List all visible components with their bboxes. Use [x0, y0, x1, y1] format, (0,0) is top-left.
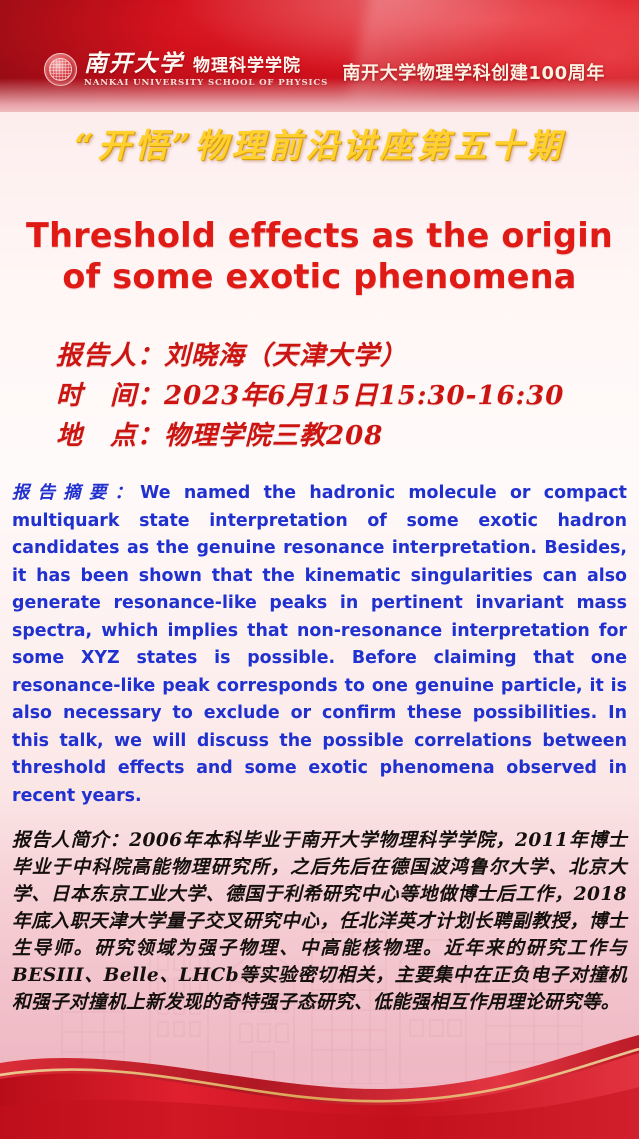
logo-university-name-cn: 南开大学 [84, 52, 184, 75]
talk-details: 报告人： 刘晓海（天津大学） 时 间： 2023年6月15日15:30-16:3… [56, 335, 619, 455]
footer-wave-gold-edge [0, 1049, 639, 1101]
footer-wave-back [0, 1035, 639, 1139]
footer-wave-highlight [0, 1087, 639, 1139]
footer-ribbon [0, 1019, 639, 1139]
time-label: 时 间： [56, 375, 164, 412]
location-value: 物理学院三教208 [164, 415, 383, 452]
speaker-row: 报告人： 刘晓海（天津大学） [56, 335, 619, 372]
header-banner: 南开大学 物理科学学院 NANKAI UNIVERSITY SCHOOL OF … [0, 0, 639, 112]
speaker-value: 刘晓海（天津大学） [164, 335, 407, 372]
talk-title: Threshold effects as the origin of some … [16, 216, 623, 298]
time-value: 2023年6月15日15:30-16:30 [164, 375, 564, 412]
series-title: “开悟”物理前沿讲座第五十期 [0, 119, 639, 167]
speaker-label: 报告人： [56, 335, 164, 372]
abstract-section: 报告摘要：We named the hadronic molecule or c… [12, 480, 627, 810]
banner-bottom-fade [0, 78, 639, 112]
time-row: 时 间： 2023年6月15日15:30-16:30 [56, 375, 619, 412]
speaker-bio: 报告人简介：2006年本科毕业于南开大学物理科学学院，2011年博士毕业于中科院… [12, 828, 627, 1017]
abstract-label: 报告摘要： [12, 483, 140, 503]
location-label: 地 点： [56, 415, 164, 452]
abstract-body: We named the hadronic molecule or compac… [12, 483, 627, 806]
logo-school-name-cn: 物理科学学院 [193, 58, 301, 75]
lecture-poster: 南开大学 物理科学学院 NANKAI UNIVERSITY SCHOOL OF … [0, 0, 639, 1139]
footer-wave-front [0, 1053, 639, 1139]
location-row: 地 点： 物理学院三教208 [56, 415, 619, 452]
